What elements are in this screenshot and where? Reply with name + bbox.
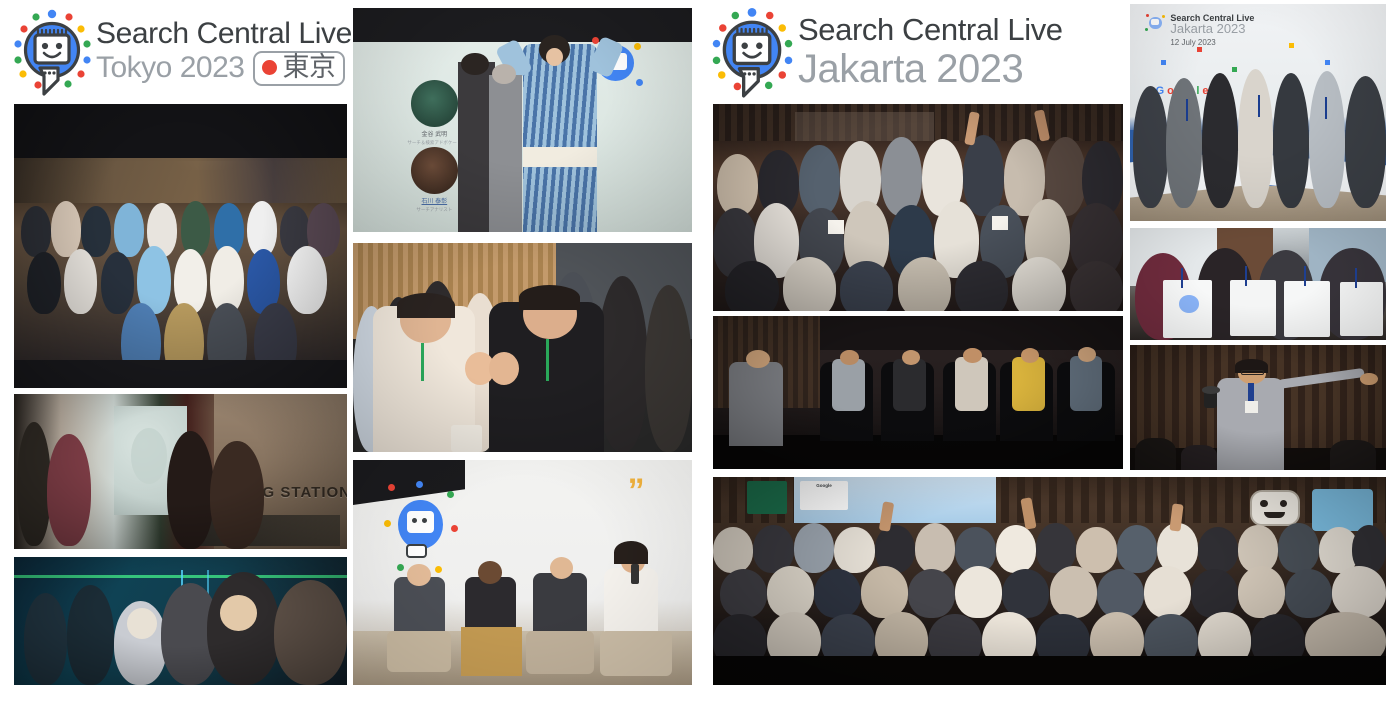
photo-jakarta-panel-discussion (713, 316, 1123, 469)
photo-jakarta-audience-question (1130, 345, 1386, 470)
photo-jakarta-banner-group: Search Central Live Jakarta 2023 12 July… (1130, 4, 1386, 221)
photo-tokyo-charging-station: CHARGING STATION (14, 394, 347, 549)
photo-tokyo-evening-booth (14, 557, 347, 685)
page-title: Search Central Live (798, 13, 1063, 46)
event-header-jakarta: Search Central Live Jakarta 2023 (706, 4, 1063, 100)
photo-tokyo-panel-discussion: ” (353, 460, 692, 685)
photo-jakarta-full-group: Google (713, 477, 1386, 685)
event-city-year: Jakarta 2023 (798, 48, 1023, 91)
event-subtitle-tokyo: Tokyo 2023 東京 (96, 51, 352, 86)
photo-tokyo-heart-hands (353, 243, 692, 452)
search-central-live-mascot-icon (8, 6, 96, 98)
event-title-block-tokyo: Search Central Live Tokyo 2023 東京 (96, 18, 352, 86)
event-subtitle-jakarta: Jakarta 2023 (798, 48, 1063, 91)
photo-tokyo-audience-group (14, 104, 347, 388)
event-title-block-jakarta: Search Central Live Jakarta 2023 (798, 13, 1063, 91)
photo-jakarta-audience (713, 104, 1123, 311)
japan-flag-dot-icon (262, 60, 277, 75)
search-central-live-mascot-icon (706, 4, 798, 100)
badge-label: 東京 (282, 54, 335, 82)
photo-jakarta-swag-bags (1130, 228, 1386, 340)
event-city-year: Tokyo 2023 (96, 52, 244, 84)
page-title: Search Central Live (96, 18, 352, 50)
status-badge: 東京 (253, 51, 345, 86)
photo-tokyo-yukata-speaker: 金谷 武明 サーチ＆検索アドボケート 石川 泰彰 サーチアナリスト (353, 8, 692, 232)
collage-page: Search Central Live Tokyo 2023 東京 (0, 0, 1400, 704)
event-header-tokyo: Search Central Live Tokyo 2023 東京 (8, 6, 352, 98)
